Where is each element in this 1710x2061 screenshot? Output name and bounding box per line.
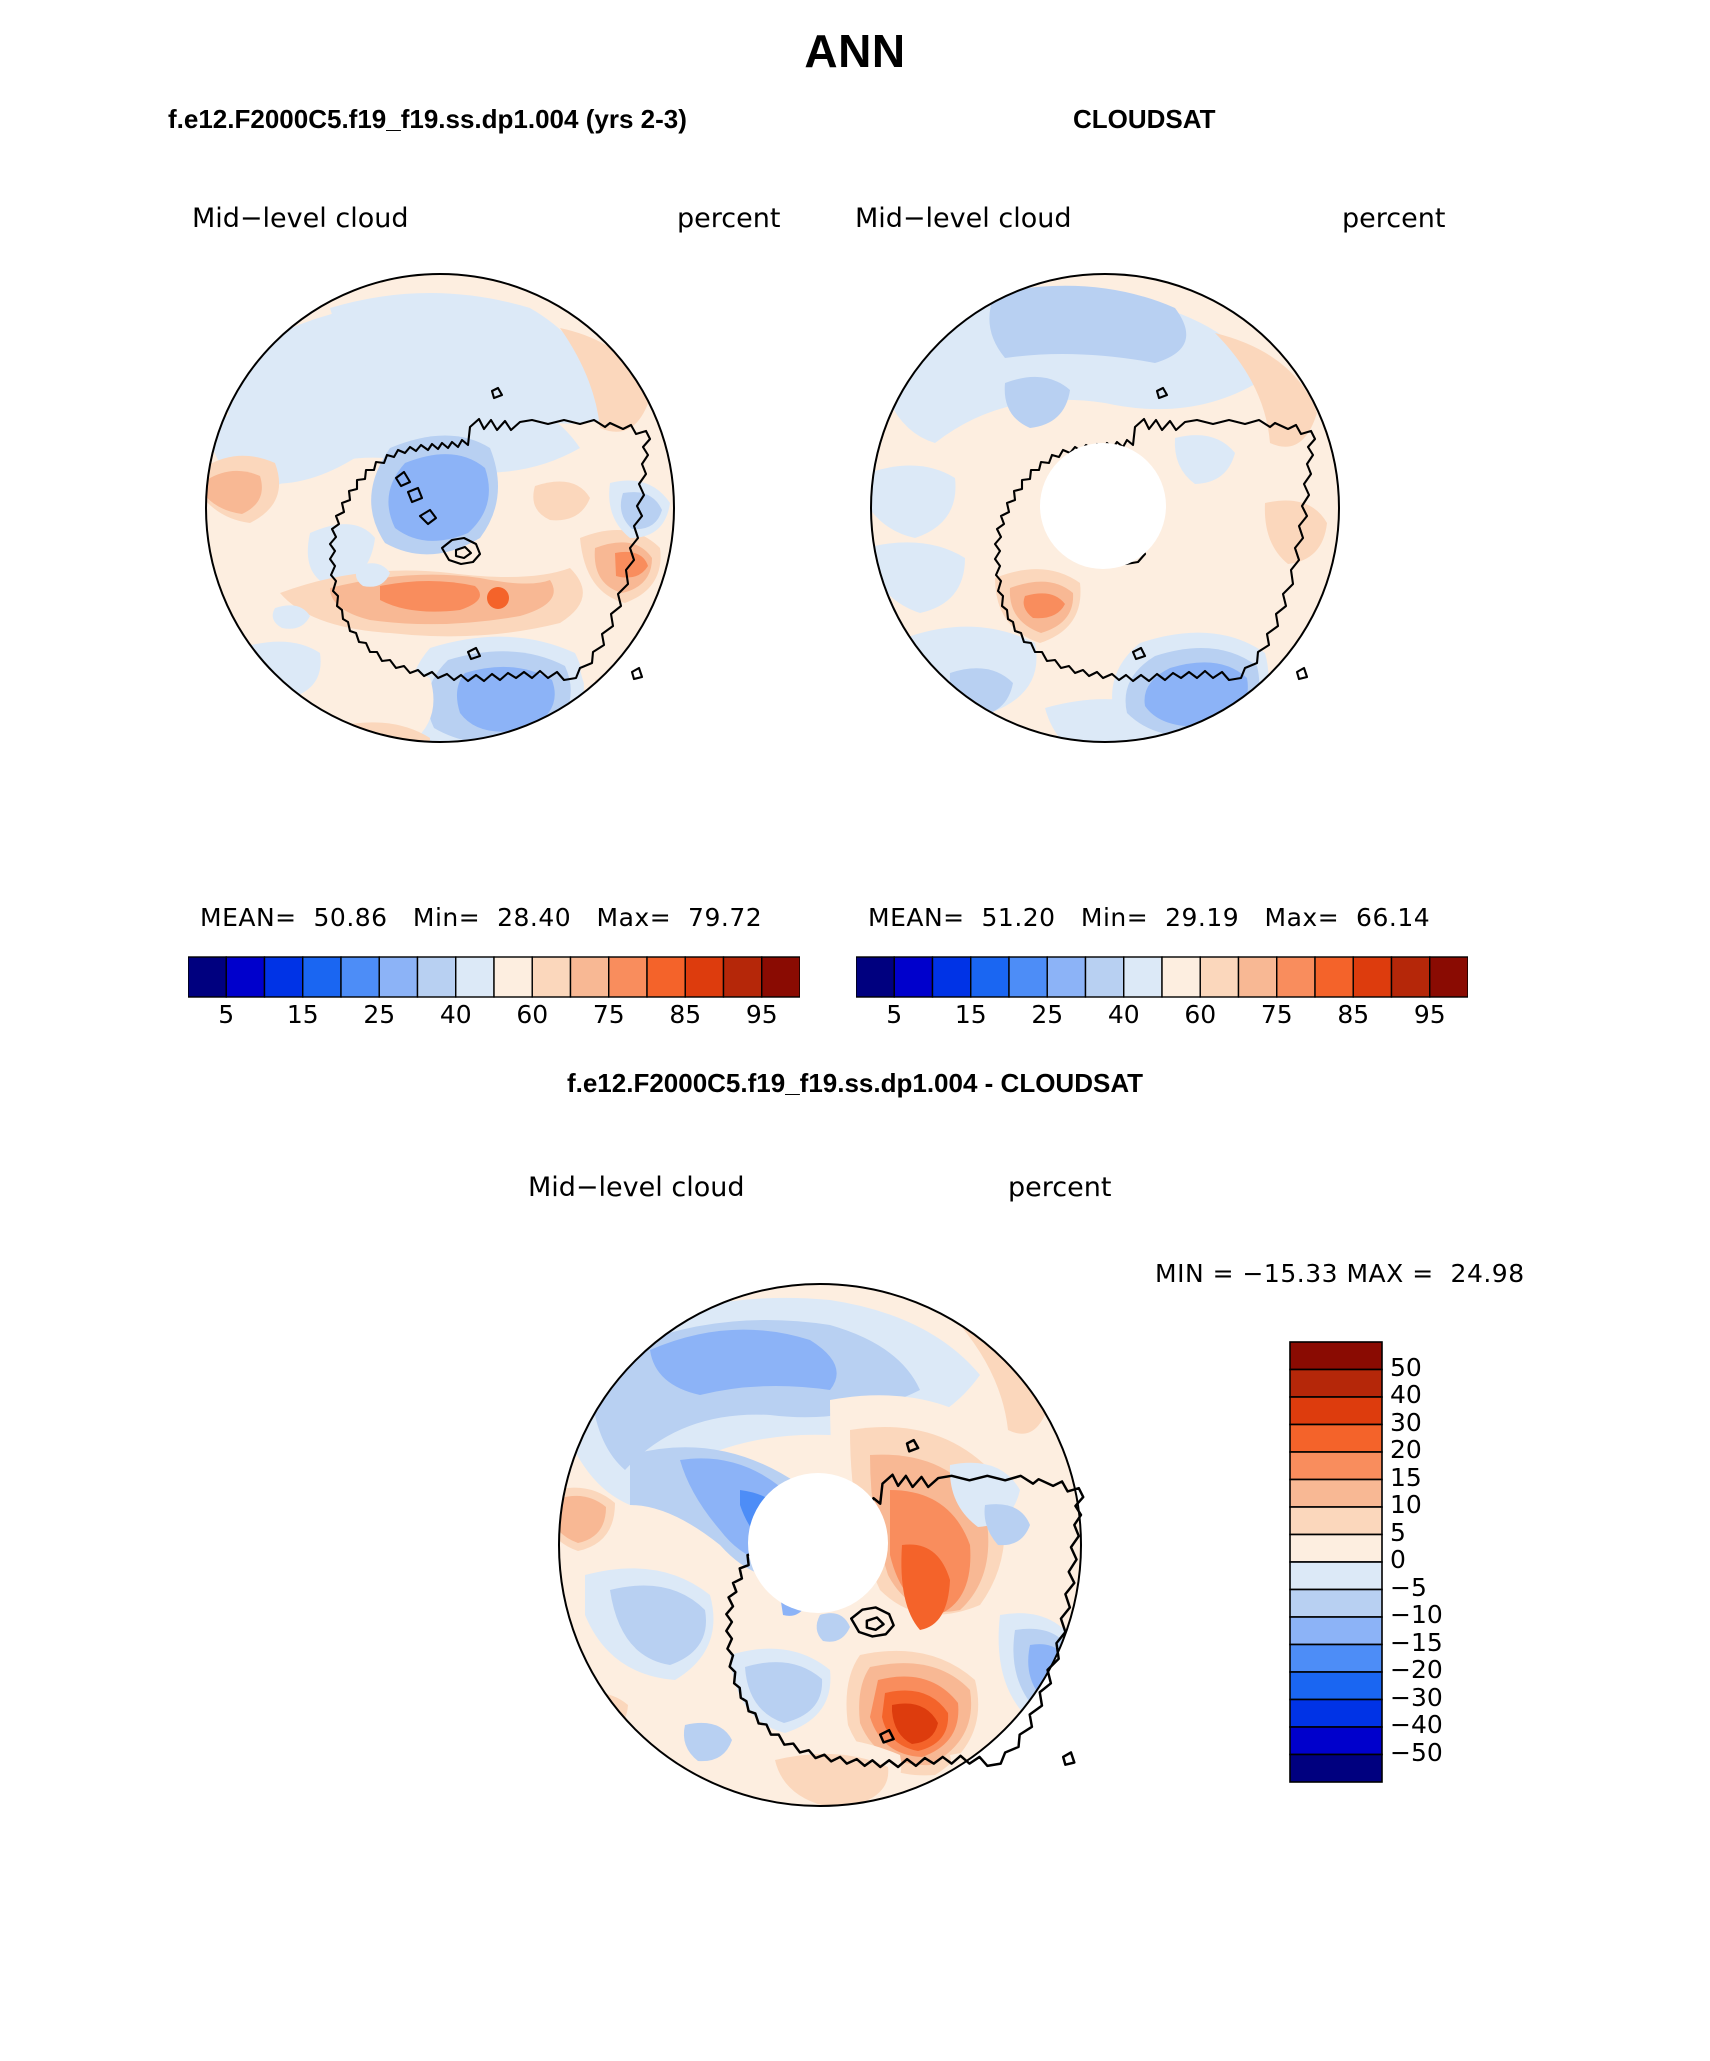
colorbar-tick-label: −30 [1390,1683,1443,1712]
colorbar-cell [418,957,456,997]
colorbar-cell [303,957,341,997]
colorbar-tick-label: 5 [864,1000,924,1029]
colorbar-cell [1239,957,1277,997]
colorbar-tick-label: 75 [579,1000,639,1029]
colorbar-cell [1086,957,1124,997]
colorbar-cell [265,957,303,997]
colorbar-cell [379,957,417,997]
colorbar-cell [971,957,1009,997]
missing-data-cap [1040,443,1166,569]
colorbar-tick-label: 40 [1094,1000,1154,1029]
colorbar-cell [762,957,800,997]
model-map [180,248,700,768]
diff-map [530,1255,1110,1835]
colorbar-tick-label: −50 [1390,1738,1443,1767]
colorbar-tick-label: −5 [1390,1573,1427,1602]
colorbar-tick-label: 60 [502,1000,562,1029]
colorbar-tick-label: 75 [1247,1000,1307,1029]
colorbar-cell [1290,1535,1382,1563]
obs-panel-title: CLOUDSAT [1073,104,1216,135]
colorbar-cell [456,957,494,997]
obs-units-label: percent [1342,203,1445,234]
colorbar-tick-label: −10 [1390,1600,1443,1629]
colorbar-tick-label: 40 [426,1000,486,1029]
obs-variable-label: Mid−level cloud [855,203,1071,234]
colorbar-tick-label: 30 [1390,1408,1422,1437]
page-title: ANN [0,24,1710,78]
colorbar-tick-label: −15 [1390,1628,1443,1657]
colorbar-tick-label: 15 [941,1000,1001,1029]
colorbar-cell [933,957,971,997]
obs-map [845,248,1365,768]
colorbar-cell [1290,1480,1382,1508]
colorbar-tick-label: 95 [732,1000,792,1029]
diff-units-label: percent [1008,1172,1111,1203]
colorbar-cell [1290,1727,1382,1755]
obs-colorbar-labels: 515254060758595 [856,1000,1468,1034]
colorbar-tick-label: 40 [1390,1380,1422,1409]
colorbar-cell [1353,957,1391,997]
diff-panel-title: f.e12.F2000C5.f19_f19.ss.dp1.004 - CLOUD… [0,1068,1710,1099]
diff-colorbar [1288,1340,1384,1788]
colorbar-cell [894,957,932,997]
colorbar-tick-label: 5 [196,1000,256,1029]
model-panel-title: f.e12.F2000C5.f19_f19.ss.dp1.004 (yrs 2-… [168,104,687,135]
obs-colorbar [856,955,1468,999]
colorbar-cell [1315,957,1353,997]
colorbar-tick-label: 0 [1390,1545,1406,1574]
colorbar-cell [1290,1645,1382,1673]
colorbar-tick-label: 10 [1390,1490,1422,1519]
colorbar-cell [1277,957,1315,997]
colorbar-tick-label: 25 [349,1000,409,1029]
diff-colorbar-labels: 50403020151050−5−10−15−20−30−40−50 [1390,1340,1510,1800]
colorbar-tick-label: 85 [1323,1000,1383,1029]
colorbar-cell [1290,1342,1382,1370]
colorbar-cell [532,957,570,997]
colorbar-cell [1200,957,1238,997]
colorbar-tick-label: 25 [1017,1000,1077,1029]
colorbar-cell [1047,957,1085,997]
colorbar-cell [341,957,379,997]
colorbar-cell [1290,1452,1382,1480]
colorbar-cell [724,957,762,997]
colorbar-cell [1290,1755,1382,1783]
model-variable-label: Mid−level cloud [192,203,408,234]
colorbar-cell [1162,957,1200,997]
colorbar-cell [1290,1397,1382,1425]
diff-stats: MIN = −15.33 MAX = 24.98 [1155,1259,1525,1288]
colorbar-cell [226,957,264,997]
colorbar-cell [1290,1617,1382,1645]
diff-variable-label: Mid−level cloud [528,1172,744,1203]
colorbar-cell [1430,957,1468,997]
colorbar-cell [1290,1590,1382,1618]
colorbar-cell [571,957,609,997]
colorbar-cell [1290,1507,1382,1535]
colorbar-tick-label: −40 [1390,1710,1443,1739]
colorbar-cell [188,957,226,997]
obs-stats: MEAN= 51.20 Min= 29.19 Max= 66.14 [868,903,1430,932]
colorbar-tick-label: 85 [655,1000,715,1029]
colorbar-cell [1290,1562,1382,1590]
colorbar-tick-label: 5 [1390,1518,1406,1547]
model-colorbar-labels: 515254060758595 [188,1000,800,1034]
colorbar-cell [685,957,723,997]
missing-data-cap [748,1473,888,1613]
colorbar-tick-label: 15 [273,1000,333,1029]
colorbar-tick-label: 60 [1170,1000,1230,1029]
colorbar-tick-label: 95 [1400,1000,1460,1029]
colorbar-cell [1290,1672,1382,1700]
colorbar-cell [856,957,894,997]
colorbar-cell [494,957,532,997]
colorbar-cell [1290,1425,1382,1453]
colorbar-cell [1392,957,1430,997]
model-colorbar [188,955,800,999]
colorbar-cell [1124,957,1162,997]
colorbar-cell [1290,1700,1382,1728]
colorbar-tick-label: −20 [1390,1655,1443,1684]
model-units-label: percent [677,203,780,234]
model-stats: MEAN= 50.86 Min= 28.40 Max= 79.72 [200,903,762,932]
colorbar-tick-label: 20 [1390,1435,1422,1464]
colorbar-cell [1290,1370,1382,1398]
colorbar-cell [609,957,647,997]
colorbar-tick-label: 50 [1390,1353,1422,1382]
colorbar-cell [647,957,685,997]
colorbar-tick-label: 15 [1390,1463,1422,1492]
colorbar-cell [1009,957,1047,997]
